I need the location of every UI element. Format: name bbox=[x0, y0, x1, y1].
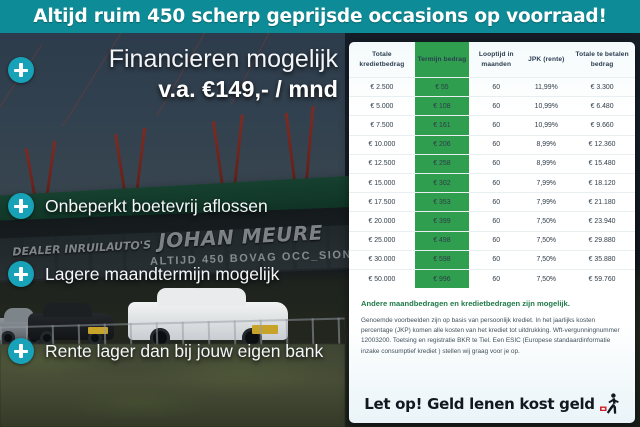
table-cell: 60 bbox=[469, 174, 523, 193]
table-cell: € 20.000 bbox=[349, 212, 415, 231]
table-cell: 10,99% bbox=[523, 116, 569, 135]
table-cell: 7,99% bbox=[523, 193, 569, 212]
table-cell: 10,99% bbox=[523, 97, 569, 116]
table-header-cell: Termijn bedrag bbox=[415, 42, 469, 78]
left-content: Financieren mogelijk v.a. €149,- / mnd O… bbox=[0, 33, 350, 427]
table-header-cell: Totale te betalen bedrag bbox=[569, 42, 635, 78]
table-cell: € 35.880 bbox=[569, 250, 635, 269]
credit-note: Andere maandbedragen en kredietbedragen … bbox=[349, 288, 635, 357]
table-cell: € 21.180 bbox=[569, 193, 635, 212]
headline-block: Financieren mogelijk v.a. €149,- / mnd bbox=[0, 45, 348, 104]
table-cell: 8,99% bbox=[523, 135, 569, 154]
headline-line-2: v.a. €149,- / mnd bbox=[0, 74, 338, 105]
note-heading: Andere maandbedragen en kredietbedragen … bbox=[361, 298, 623, 309]
table-cell: € 15.480 bbox=[569, 154, 635, 173]
table-cell: 60 bbox=[469, 212, 523, 231]
bullet-item-3: Rente lager dan bij jouw eigen bank bbox=[8, 338, 348, 364]
table-cell: € 161 bbox=[415, 116, 469, 135]
table-row: € 5.000€ 1086010,99%€ 6.480 bbox=[349, 97, 635, 116]
table-row: € 10.000€ 206608,99%€ 12.360 bbox=[349, 135, 635, 154]
table-cell: 60 bbox=[469, 154, 523, 173]
table-cell: 60 bbox=[469, 97, 523, 116]
table-cell: € 50.000 bbox=[349, 269, 415, 288]
plus-icon bbox=[8, 193, 34, 219]
table-row: € 12.500€ 258608,99%€ 15.480 bbox=[349, 154, 635, 173]
table-cell: € 5.000 bbox=[349, 97, 415, 116]
table-cell: 60 bbox=[469, 78, 523, 97]
table-cell: 7,50% bbox=[523, 231, 569, 250]
table-row: € 15.000€ 302607,99%€ 18.120 bbox=[349, 174, 635, 193]
table-cell: € 7.500 bbox=[349, 116, 415, 135]
table-cell: 7,50% bbox=[523, 212, 569, 231]
table-cell: 11,99% bbox=[523, 78, 569, 97]
table-cell: € 17.500 bbox=[349, 193, 415, 212]
table-cell: 8,99% bbox=[523, 154, 569, 173]
rates-card: Totale kredietbedragTermijn bedragLoopti… bbox=[349, 42, 635, 423]
table-cell: € 10.000 bbox=[349, 135, 415, 154]
table-cell: € 55 bbox=[415, 78, 469, 97]
warning-block: Let op! Geld lenen kost geld bbox=[349, 393, 635, 415]
table-row: € 2.500€ 556011,99%€ 3.300 bbox=[349, 78, 635, 97]
table-row: € 25.000€ 498607,50%€ 29.880 bbox=[349, 231, 635, 250]
plus-icon bbox=[8, 338, 34, 364]
rates-table-body: € 2.500€ 556011,99%€ 3.300€ 5.000€ 10860… bbox=[349, 78, 635, 289]
table-cell: € 18.120 bbox=[569, 174, 635, 193]
table-cell: € 108 bbox=[415, 97, 469, 116]
table-cell: € 12.360 bbox=[569, 135, 635, 154]
table-header-cell: JPK (rente) bbox=[523, 42, 569, 78]
table-cell: € 23.940 bbox=[569, 212, 635, 231]
table-row: € 30.000€ 598607,50%€ 35.880 bbox=[349, 250, 635, 269]
table-cell: € 59.760 bbox=[569, 269, 635, 288]
headline-line-1: Financieren mogelijk bbox=[0, 45, 338, 74]
table-cell: 7,99% bbox=[523, 174, 569, 193]
table-cell: € 3.300 bbox=[569, 78, 635, 97]
promo-banner-image: DEALER INRUILAUTO'S JOHAN MEURE ALTIJD 4… bbox=[0, 0, 640, 427]
table-cell: € 996 bbox=[415, 269, 469, 288]
table-row: € 50.000€ 996607,50%€ 59.760 bbox=[349, 269, 635, 288]
note-body: Genoemde voorbeelden zijn op basis van p… bbox=[361, 316, 623, 358]
running-man-icon bbox=[600, 393, 620, 415]
table-cell: € 9.660 bbox=[569, 116, 635, 135]
table-cell: € 399 bbox=[415, 212, 469, 231]
table-cell: 60 bbox=[469, 193, 523, 212]
table-cell: € 25.000 bbox=[349, 231, 415, 250]
table-cell: 7,50% bbox=[523, 269, 569, 288]
bullet-label: Lagere maandtermijn mogelijk bbox=[45, 264, 279, 285]
rates-table-head: Totale kredietbedragTermijn bedragLoopti… bbox=[349, 42, 635, 78]
table-cell: € 6.480 bbox=[569, 97, 635, 116]
plus-icon bbox=[8, 261, 34, 287]
bullet-label: Onbeperkt boetevrij aflossen bbox=[45, 196, 268, 217]
table-cell: € 498 bbox=[415, 231, 469, 250]
table-cell: 7,50% bbox=[523, 250, 569, 269]
table-cell: 60 bbox=[469, 116, 523, 135]
table-header-cell: Totale kredietbedrag bbox=[349, 42, 415, 78]
table-cell: € 258 bbox=[415, 154, 469, 173]
table-row: € 17.500€ 353607,99%€ 21.180 bbox=[349, 193, 635, 212]
table-row: € 7.500€ 1616010,99%€ 9.660 bbox=[349, 116, 635, 135]
table-cell: 60 bbox=[469, 231, 523, 250]
table-row: € 20.000€ 399607,50%€ 23.940 bbox=[349, 212, 635, 231]
table-cell: € 353 bbox=[415, 193, 469, 212]
top-banner: Altijd ruim 450 scherp geprijsde occasio… bbox=[0, 0, 640, 33]
table-cell: € 15.000 bbox=[349, 174, 415, 193]
table-cell: € 12.500 bbox=[349, 154, 415, 173]
table-cell: € 2.500 bbox=[349, 78, 415, 97]
table-header-cell: Looptijd in maanden bbox=[469, 42, 523, 78]
bullet-item-1: Onbeperkt boetevrij aflossen bbox=[8, 193, 348, 219]
table-cell: € 206 bbox=[415, 135, 469, 154]
table-cell: 60 bbox=[469, 135, 523, 154]
table-cell: € 30.000 bbox=[349, 250, 415, 269]
table-header-row: Totale kredietbedragTermijn bedragLoopti… bbox=[349, 42, 635, 78]
banner-headline: Altijd ruim 450 scherp geprijsde occasio… bbox=[33, 6, 606, 27]
bullet-item-2: Lagere maandtermijn mogelijk bbox=[8, 261, 348, 287]
rates-table: Totale kredietbedragTermijn bedragLoopti… bbox=[349, 42, 635, 288]
table-cell: € 598 bbox=[415, 250, 469, 269]
table-cell: 60 bbox=[469, 250, 523, 269]
bullet-label: Rente lager dan bij jouw eigen bank bbox=[45, 341, 323, 362]
table-cell: € 302 bbox=[415, 174, 469, 193]
warning-text: Let op! Geld lenen kost geld bbox=[364, 395, 594, 413]
table-cell: 60 bbox=[469, 269, 523, 288]
table-cell: € 29.880 bbox=[569, 231, 635, 250]
